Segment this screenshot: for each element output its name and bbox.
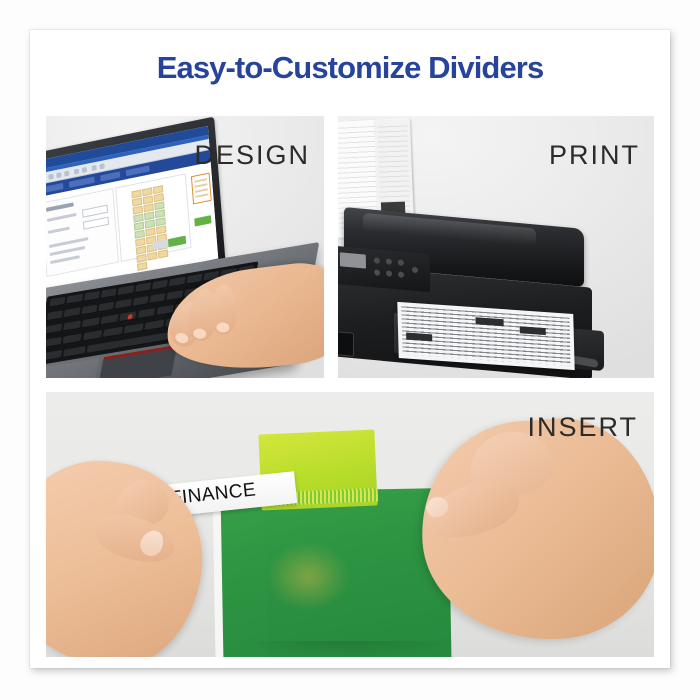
design-form-panel	[46, 188, 119, 277]
lid-highlight	[363, 213, 536, 247]
panel-design: DESIGN	[46, 116, 324, 378]
page-title: Easy-to-Customize Dividers	[30, 50, 670, 86]
memory-card-slot	[338, 331, 354, 357]
divider-template-grid	[131, 184, 176, 271]
caption-insert: INSERT	[527, 412, 638, 443]
printer-lcd-display	[340, 252, 366, 268]
caption-design: DESIGN	[194, 140, 310, 171]
caption-print: PRINT	[549, 140, 640, 171]
fingers-seen-through-divider	[260, 542, 356, 628]
printer-control-panel[interactable]	[338, 246, 430, 292]
index-finger	[89, 507, 179, 570]
panel-print: PRINT	[338, 116, 654, 378]
product-card: Easy-to-Customize Dividers	[30, 30, 670, 668]
template-thumbnail-rail	[190, 169, 215, 247]
selected-template-thumbnail	[191, 173, 212, 205]
laptop-illustration	[46, 140, 324, 378]
contact-shadow	[196, 641, 496, 657]
panel-insert: FINANCE INSERT	[46, 392, 654, 657]
template-preview	[115, 173, 191, 262]
finger	[210, 284, 237, 334]
product-infographic: Easy-to-Customize Dividers	[0, 0, 700, 700]
